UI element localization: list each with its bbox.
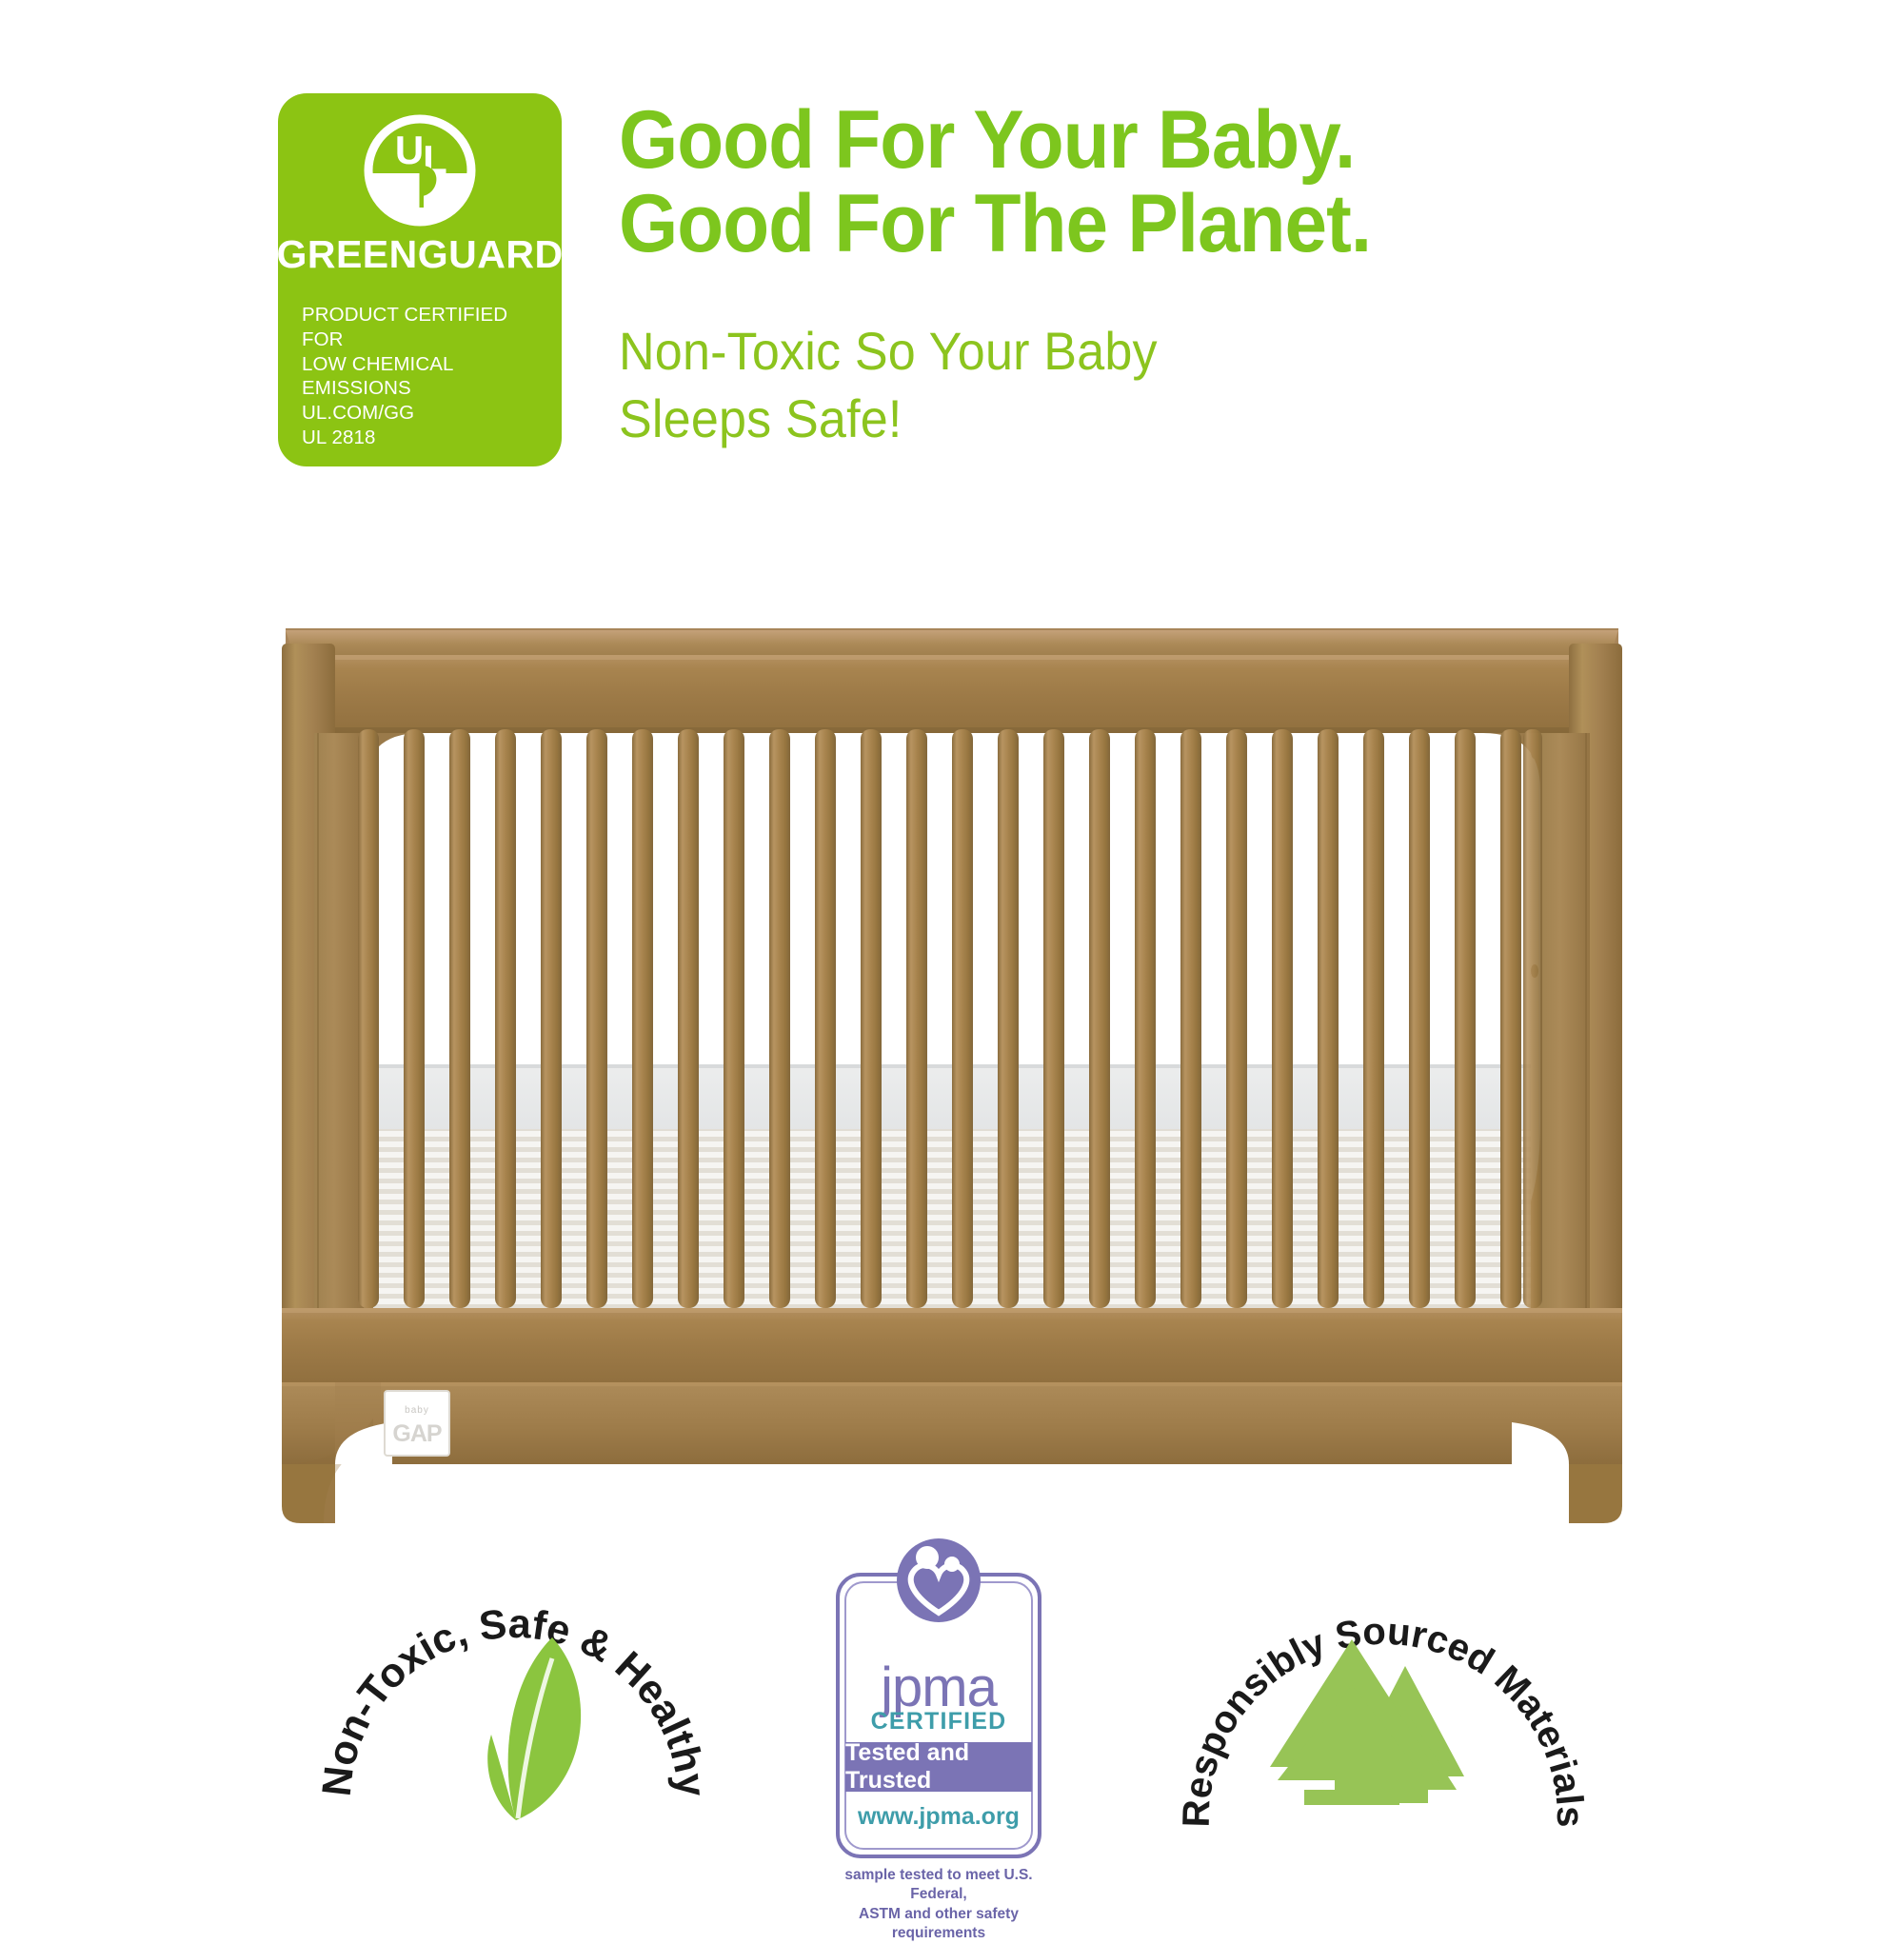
- crib-slats: [358, 729, 1542, 1308]
- jpma-url: www.jpma.org: [840, 1803, 1038, 1831]
- parent-child-heart-icon: [889, 1538, 988, 1626]
- jpma-tested-trusted-band: Tested and Trusted: [845, 1742, 1032, 1792]
- headline-line-2: Good For The Planet.: [619, 183, 1557, 267]
- badge-jpma-certified: jpma CERTIFIED Tested and Trusted www.jp…: [836, 1540, 1041, 1891]
- svg-text:GAP: GAP: [392, 1420, 442, 1447]
- greenguard-wordmark: GREENGUARD: [276, 232, 563, 277]
- headline: Good For Your Baby. Good For The Planet.: [619, 99, 1557, 266]
- babygap-logo-tag: baby GAP: [385, 1391, 449, 1456]
- leaf-icon: [487, 1637, 581, 1820]
- jpma-fine-print-line-1: sample tested to meet U.S. Federal,: [823, 1866, 1055, 1905]
- svg-text:baby: baby: [405, 1405, 429, 1416]
- svg-text:U: U: [395, 128, 424, 172]
- ul-greenguard-mark-icon: U L: [364, 114, 476, 227]
- headline-line-1: Good For Your Baby.: [619, 99, 1557, 183]
- cert-line-4: UL 2818: [302, 426, 538, 450]
- subheadline: Non-Toxic So Your Baby Sleeps Safe!: [619, 318, 1504, 452]
- badge-non-toxic-safe-healthy: Non-Toxic, Safe & Healthy: [314, 1516, 714, 1896]
- subheadline-line-1: Non-Toxic So Your Baby: [619, 318, 1504, 386]
- cert-line-2: LOW CHEMICAL EMISSIONS: [302, 352, 538, 402]
- greenguard-certification-badge: U L GREENGUARD PRODUCT CERTIFIED FOR LOW…: [278, 93, 562, 466]
- cert-line-3: UL.COM/GG: [302, 401, 538, 426]
- badge-responsibly-sourced-materials: Responsibly Sourced Materials: [1179, 1504, 1588, 1896]
- cert-line-1: PRODUCT CERTIFIED FOR: [302, 303, 538, 352]
- greenguard-certification-details: PRODUCT CERTIFIED FOR LOW CHEMICAL EMISS…: [302, 303, 538, 450]
- jpma-certified-label: CERTIFIED: [840, 1708, 1038, 1736]
- jpma-fine-print-line-2: ASTM and other safety requirements: [823, 1905, 1055, 1944]
- jpma-fine-print: sample tested to meet U.S. Federal, ASTM…: [823, 1866, 1055, 1944]
- subheadline-line-2: Sleeps Safe!: [619, 386, 1504, 453]
- greenguard-level-label: GOLD: [383, 472, 456, 500]
